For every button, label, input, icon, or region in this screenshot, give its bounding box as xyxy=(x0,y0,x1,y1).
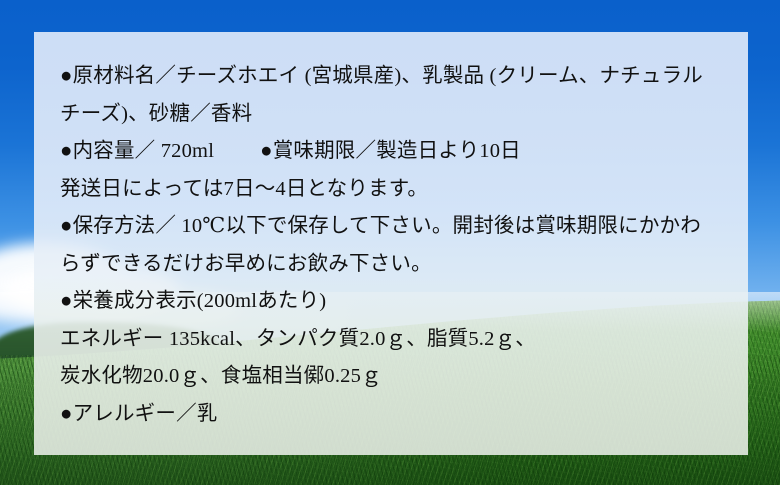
nutrition-values-line-2: 炭水化物20.0ｇ、食塩相当鄇0.25ｇ xyxy=(60,358,726,396)
volume-text: ●内容量／ 720ml xyxy=(60,140,214,162)
ingredients-line-1: ●原材料名／チーズホエイ (宮城県産)、乳製品 (クリーム、ナチュラル xyxy=(60,58,726,96)
ingredients-line-2: チーズ)、砂糖／香料 xyxy=(60,96,726,134)
shipping-note-line: 発送日によっては7日～4日となります。 xyxy=(60,171,726,209)
storage-line-1: ●保存方法／ 10℃以下で保存して下さい。開封後は賞味期限にかかわ xyxy=(60,208,726,246)
product-info-panel: ●原材料名／チーズホエイ (宮城県産)、乳製品 (クリーム、ナチュラル チーズ)… xyxy=(34,32,748,455)
nutrition-values-line-1: エネルギー 135kcal、タンパク質2.0ｇ、脂質5.2ｇ、 xyxy=(60,321,726,359)
allergen-line: ●アレルギー／乳 xyxy=(60,396,726,434)
best-before-text: ●賞味期限／製造日より10日 xyxy=(260,140,521,162)
storage-line-2: らずできるだけお早めにお飲み下さい。 xyxy=(60,246,726,284)
product-description-image: ●原材料名／チーズホエイ (宮城県産)、乳製品 (クリーム、ナチュラル チーズ)… xyxy=(0,0,780,485)
product-info-text-block: ●原材料名／チーズホエイ (宮城県産)、乳製品 (クリーム、ナチュラル チーズ)… xyxy=(60,58,726,433)
nutrition-header-line: ●栄養成分表示(200mlあたり) xyxy=(60,283,726,321)
volume-and-best-before-line: ●内容量／ 720ml●賞味期限／製造日より10日 xyxy=(60,133,726,171)
